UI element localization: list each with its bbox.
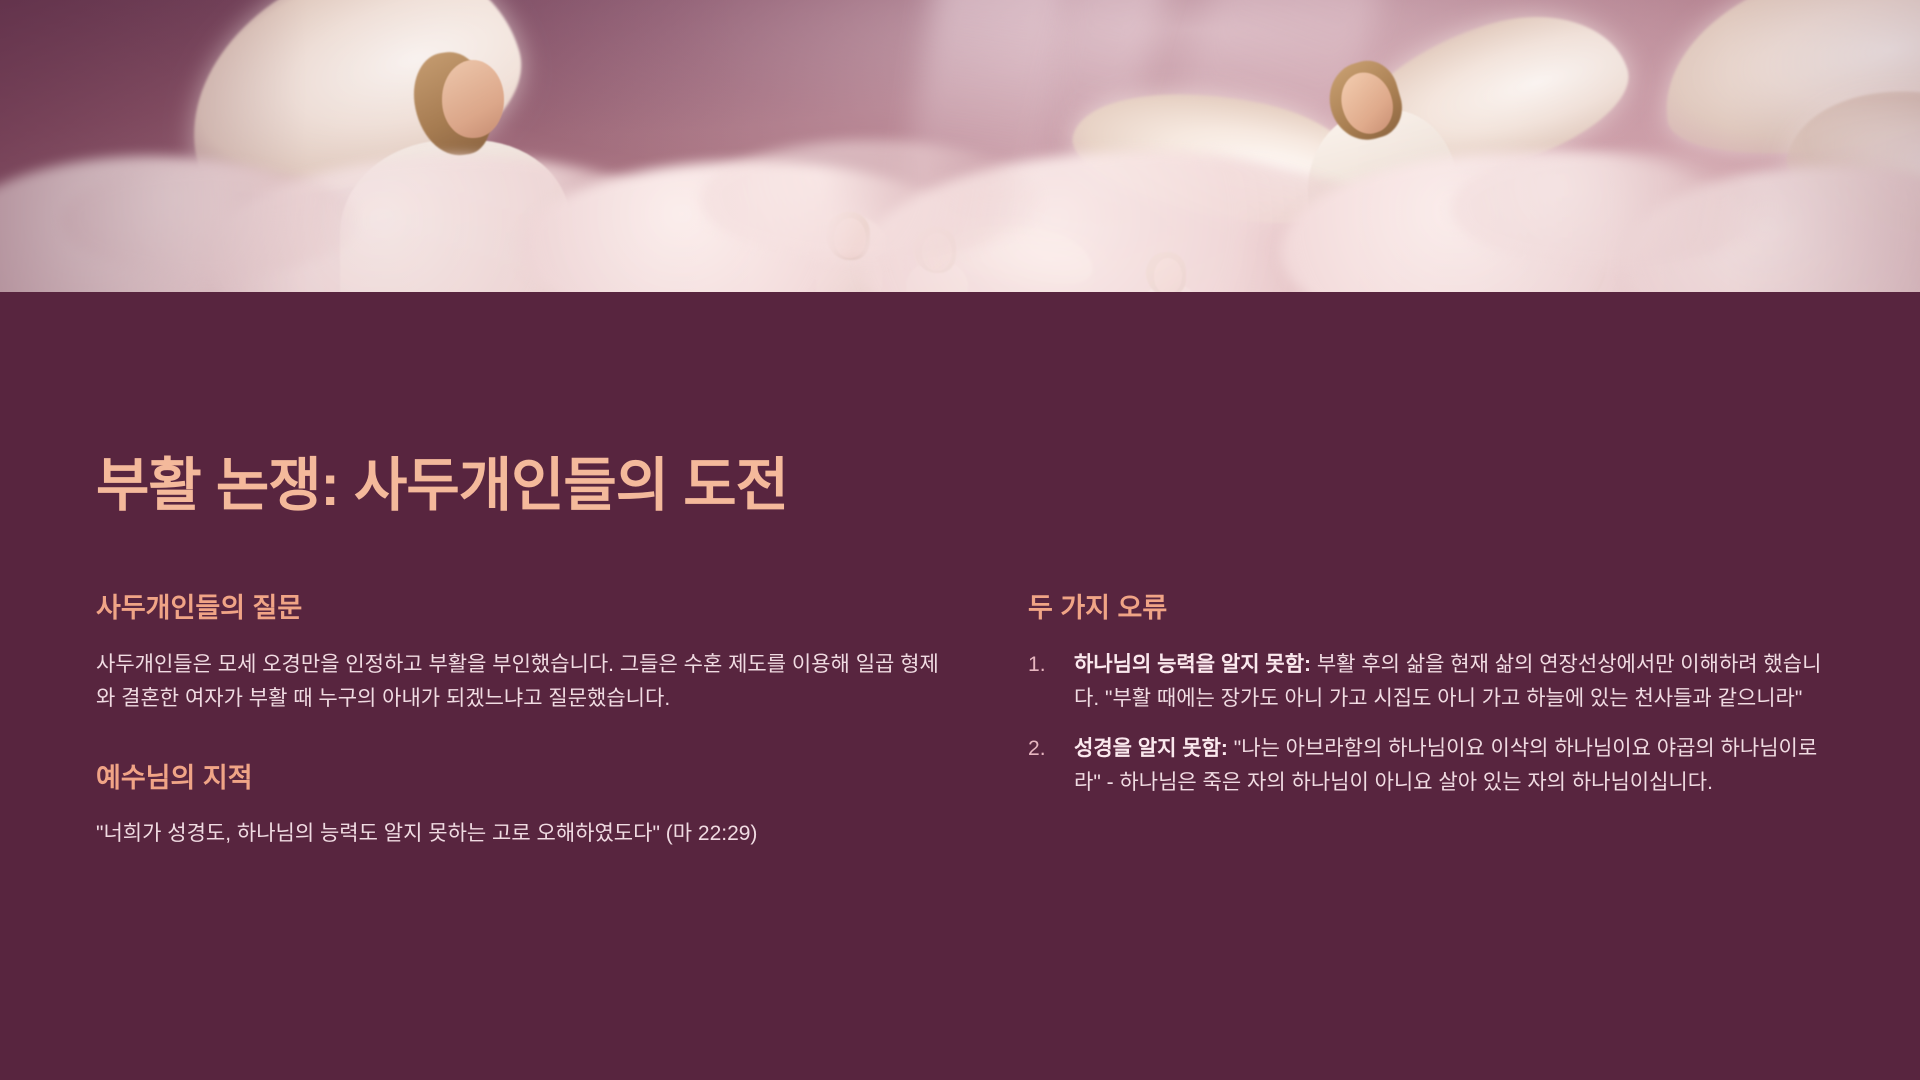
section-body-sadducees-question: 사두개인들은 모세 오경만을 인정하고 부활을 부인했습니다. 그들은 수혼 제…	[96, 648, 956, 716]
list-item: 성경을 알지 못함: "나는 아브라함의 하나님이요 이삭의 하나님이요 야곱의…	[1028, 732, 1824, 800]
section-heading-sadducees-question: 사두개인들의 질문	[96, 592, 956, 626]
cloud-icon	[700, 140, 1040, 260]
section-heading-jesus-rebuke: 예수님의 지적	[96, 762, 956, 796]
left-column: 사두개인들의 질문 사두개인들은 모세 오경만을 인정하고 부활을 부인했습니다…	[96, 592, 956, 852]
two-column-layout: 사두개인들의 질문 사두개인들은 모세 오경만을 인정하고 부활을 부인했습니다…	[96, 592, 1824, 852]
content-section: 부활 논쟁: 사두개인들의 도전 사두개인들의 질문 사두개인들은 모세 오경만…	[0, 296, 1920, 1080]
list-item: 하나님의 능력을 알지 못함: 부활 후의 삶을 현재 삶의 연장선상에서만 이…	[1028, 648, 1824, 716]
page-title: 부활 논쟁: 사두개인들의 도전	[96, 296, 1824, 518]
right-column: 두 가지 오류 하나님의 능력을 알지 못함: 부활 후의 삶을 현재 삶의 연…	[1028, 592, 1824, 852]
cloud-bank	[0, 116, 1920, 296]
cloud-icon	[1450, 151, 1770, 266]
cloud-icon	[60, 166, 360, 276]
section-heading-two-errors: 두 가지 오류	[1028, 592, 1824, 626]
scripture-quote: "너희가 성경도, 하나님의 능력도 알지 못하는 고로 오해하였도다" (마 …	[96, 817, 956, 851]
errors-list: 하나님의 능력을 알지 못함: 부활 후의 삶을 현재 삶의 연장선상에서만 이…	[1028, 648, 1824, 800]
list-item-label: 하나님의 능력을 알지 못함:	[1074, 653, 1311, 676]
hero-banner	[0, 0, 1920, 296]
list-item-label: 성경을 알지 못함:	[1074, 737, 1228, 760]
